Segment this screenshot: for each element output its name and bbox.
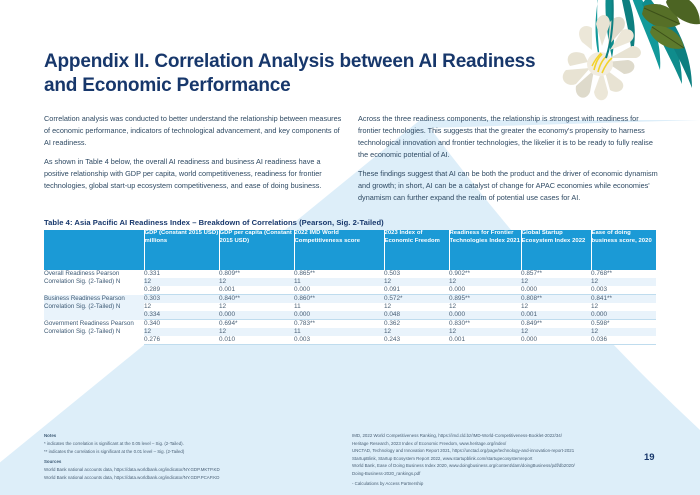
table-cell: 12 bbox=[219, 278, 294, 286]
table-header-cell-imd-competitiveness: 2022 IMD World Competitiveness score bbox=[294, 230, 384, 270]
table-cell: 0.000 bbox=[449, 286, 521, 295]
table-cell: 0.091 bbox=[384, 286, 449, 295]
body-paragraph: Across the three readiness components, t… bbox=[358, 113, 660, 161]
table-header-row: GDP (Constant 2015 USD) millions GDP per… bbox=[44, 230, 656, 270]
table-row: Business Readiness Pearson Correlation S… bbox=[44, 295, 656, 304]
table-header-cell-label bbox=[44, 230, 144, 270]
table-cell: 12 bbox=[521, 278, 591, 286]
table-cell: 0.340 bbox=[144, 320, 219, 329]
table-header-cell-startup-ecosystem: Global Startup Ecosystem Index 2022 bbox=[521, 230, 591, 270]
table-cell: 12 bbox=[384, 328, 449, 336]
source-line: World Bank national accounts data, https… bbox=[44, 466, 334, 474]
table-cell: 0.694* bbox=[219, 320, 294, 329]
table-cell: 0.000 bbox=[521, 336, 591, 345]
table-cell: 12 bbox=[449, 278, 521, 286]
page-title-line2: and Economic Performance bbox=[44, 75, 291, 96]
table-cell: 0.572* bbox=[384, 295, 449, 304]
table-cell: 12 bbox=[144, 328, 219, 336]
notes-right: IMD, 2022 World Competitiveness Ranking,… bbox=[352, 432, 632, 488]
table-cell: 0.503 bbox=[384, 270, 449, 278]
table-cell: 11 bbox=[294, 328, 384, 336]
table-cell: 12 bbox=[591, 328, 656, 336]
table-cell: 0.001 bbox=[219, 286, 294, 295]
body-column-right: Across the three readiness components, t… bbox=[358, 113, 660, 211]
table-cell: 12 bbox=[384, 278, 449, 286]
source-line: StartupBlink, Startup Ecosystem Report 2… bbox=[352, 455, 632, 463]
table-cell: 12 bbox=[449, 328, 521, 336]
table-body: Overall Readiness Pearson Correlation Si… bbox=[44, 270, 656, 345]
table-row-label-government: Government Readiness Pearson Correlation… bbox=[44, 320, 144, 345]
table-cell: 0.865** bbox=[294, 270, 384, 278]
source-line: UNCTAD, Technology and Innovation Report… bbox=[352, 447, 632, 455]
table-cell: 0.860** bbox=[294, 295, 384, 304]
table-cell: 12 bbox=[144, 278, 219, 286]
table-row-label-overall: Overall Readiness Pearson Correlation Si… bbox=[44, 270, 144, 295]
table-header-cell-gdp: GDP (Constant 2015 USD) millions bbox=[144, 230, 219, 270]
table-cell: 0.276 bbox=[144, 336, 219, 345]
table-cell: 0.331 bbox=[144, 270, 219, 278]
table-cell: 0.857** bbox=[521, 270, 591, 278]
table-cell: 0.840** bbox=[219, 295, 294, 304]
table-cell: 12 bbox=[144, 303, 219, 311]
table-cell: 12 bbox=[521, 328, 591, 336]
notes-heading: Notes bbox=[44, 432, 334, 440]
table-cell: 0.808** bbox=[521, 295, 591, 304]
source-line: IMD, 2022 World Competitiveness Ranking,… bbox=[352, 432, 632, 440]
table-cell: 0.003 bbox=[591, 286, 656, 295]
source-line: World Bank, Ease of Doing Business Index… bbox=[352, 462, 632, 470]
table-cell: 0.001 bbox=[449, 336, 521, 345]
table-cell: 0.000 bbox=[294, 311, 384, 320]
table-cell: 12 bbox=[219, 328, 294, 336]
notes-left: Notes * indicates the correlation is sig… bbox=[44, 432, 334, 481]
table-cell: 0.036 bbox=[591, 336, 656, 345]
source-line: World Bank national accounts data, https… bbox=[44, 474, 334, 482]
table-cell: 0.000 bbox=[219, 311, 294, 320]
table-cell: 0.334 bbox=[144, 311, 219, 320]
correlation-table: GDP (Constant 2015 USD) millions GDP per… bbox=[44, 230, 656, 345]
table-cell: 12 bbox=[521, 303, 591, 311]
table-cell: 0.362 bbox=[384, 320, 449, 329]
table-row-label-business: Business Readiness Pearson Correlation S… bbox=[44, 295, 144, 320]
note-line: ** indicates the correlation is signific… bbox=[44, 448, 334, 456]
table-cell: 0.809** bbox=[219, 270, 294, 278]
table-cell: 0.768** bbox=[591, 270, 656, 278]
table-cell: 0.048 bbox=[384, 311, 449, 320]
table-cell: 0.303 bbox=[144, 295, 219, 304]
table-cell: 0.830** bbox=[449, 320, 521, 329]
table-header-cell-ease-of-business: Ease of doing business score, 2020 bbox=[591, 230, 656, 270]
table-row: Overall Readiness Pearson Correlation Si… bbox=[44, 270, 656, 278]
table-cell: 0.895** bbox=[449, 295, 521, 304]
table-cell: 12 bbox=[449, 303, 521, 311]
source-line: Doing-Business-2020_rankings.pdf bbox=[352, 470, 632, 478]
table-header-cell-frontier-tech: Readiness for Frontier Technologies Inde… bbox=[449, 230, 521, 270]
body-paragraph: As shown in Table 4 below, the overall A… bbox=[44, 156, 346, 192]
table-cell: 0.289 bbox=[144, 286, 219, 295]
table-cell: 12 bbox=[591, 278, 656, 286]
table-cell: 0.000 bbox=[591, 311, 656, 320]
table-cell: 0.000 bbox=[449, 311, 521, 320]
body-column-left: Correlation analysis was conducted to be… bbox=[44, 113, 346, 199]
source-line: Heritage Research, 2023 Index of Economi… bbox=[352, 440, 632, 448]
table-cell: 11 bbox=[294, 278, 384, 286]
body-paragraph: These findings suggest that AI can be bo… bbox=[358, 168, 660, 204]
table-caption: Table 4: Asia Pacific AI Readiness Index… bbox=[44, 218, 384, 227]
table-cell: 0.783** bbox=[294, 320, 384, 329]
table-cell: 0.010 bbox=[219, 336, 294, 345]
table-cell: 0.598* bbox=[591, 320, 656, 329]
table-cell: 0.003 bbox=[294, 336, 384, 345]
table-cell: 0.000 bbox=[521, 286, 591, 295]
table-cell: 0.902** bbox=[449, 270, 521, 278]
table-cell: 0.243 bbox=[384, 336, 449, 345]
note-line: * indicates the correlation is significa… bbox=[44, 440, 334, 448]
sources-heading: Sources bbox=[44, 458, 334, 466]
table-cell: 12 bbox=[384, 303, 449, 311]
table-header-cell-gdp-per-capita: GDP per capita (Constant 2015 USD) bbox=[219, 230, 294, 270]
page-number: 19 bbox=[644, 452, 655, 463]
table-cell: 0.000 bbox=[294, 286, 384, 295]
table-cell: 0.849** bbox=[521, 320, 591, 329]
table-cell: 12 bbox=[219, 303, 294, 311]
calculations-line: - Calculations by Access Partnership bbox=[352, 480, 632, 488]
table-cell: 11 bbox=[294, 303, 384, 311]
table-header-cell-economic-freedom: 2023 Index of Economic Freedom bbox=[384, 230, 449, 270]
table-cell: 0.841** bbox=[591, 295, 656, 304]
table-cell: 12 bbox=[591, 303, 656, 311]
table-cell: 0.001 bbox=[521, 311, 591, 320]
page-title-line1: Appendix II. Correlation Analysis betwee… bbox=[44, 51, 535, 72]
body-paragraph: Correlation analysis was conducted to be… bbox=[44, 113, 346, 149]
page-title: Appendix II. Correlation Analysis betwee… bbox=[44, 50, 544, 98]
table-row: Government Readiness Pearson Correlation… bbox=[44, 320, 656, 329]
